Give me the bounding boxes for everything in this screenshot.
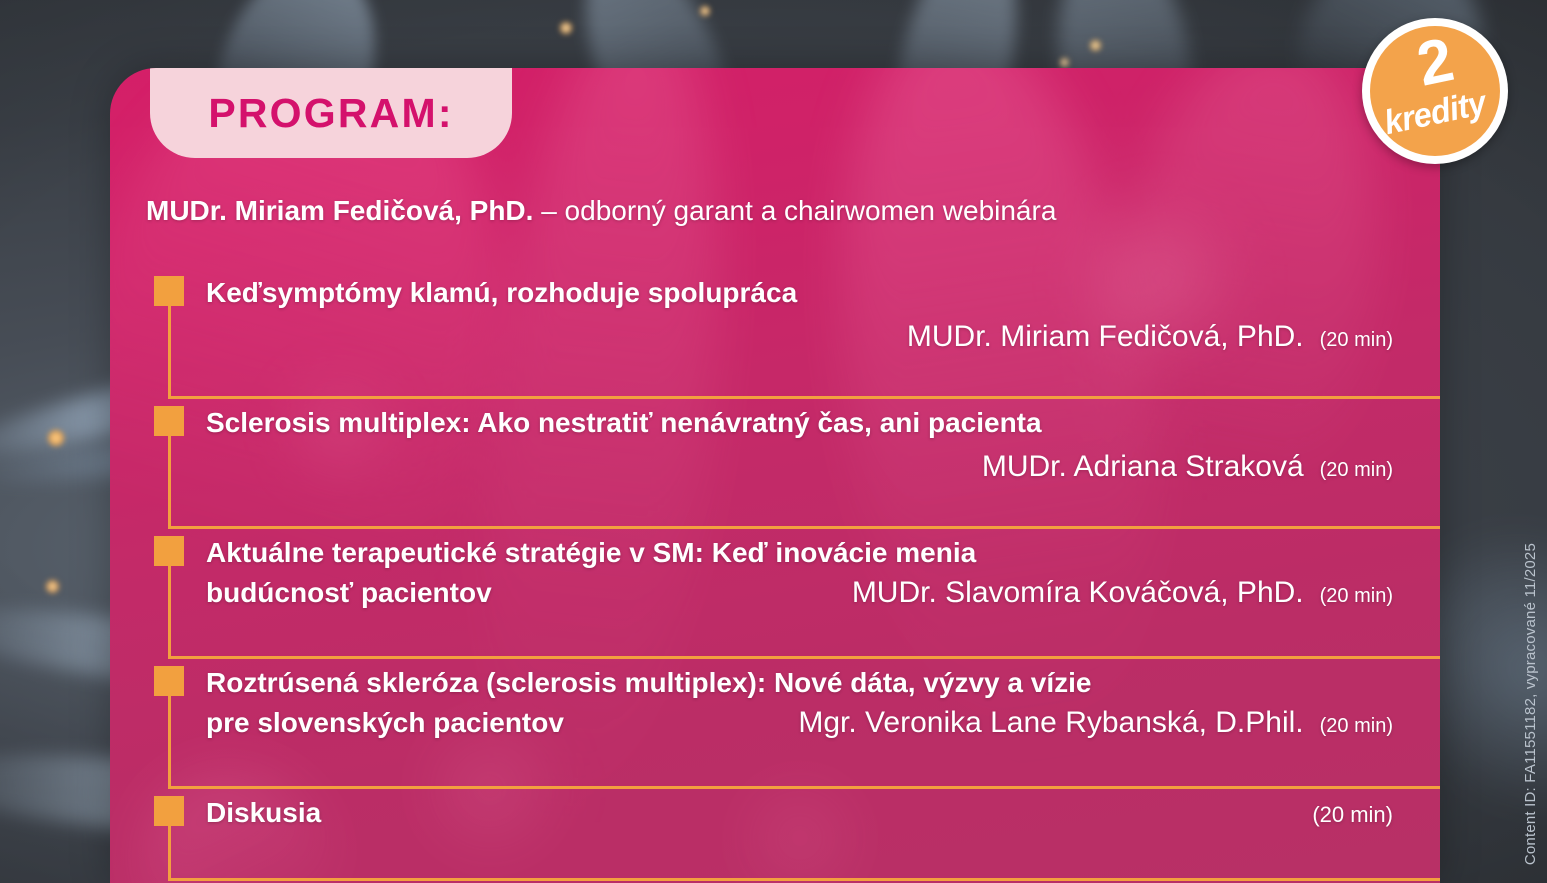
program-item[interactable]: Aktuálne terapeutické stratégie v SM: Ke… (146, 536, 1440, 663)
item-body: Diskusia (20 min) (146, 796, 1440, 829)
program-panel: PROGRAM: MUDr. Miriam Fedičová, PhD. – o… (110, 68, 1440, 883)
program-content: MUDr. Miriam Fedičová, PhD. – odborný ga… (110, 68, 1440, 883)
program-title-chip: PROGRAM: (150, 68, 512, 158)
bullet-square-icon (154, 666, 184, 696)
program-item[interactable]: Sclerosis multiplex: Ako nestratiť nenáv… (146, 406, 1440, 533)
program-item[interactable]: Roztrúsená skleróza (sclerosis multiplex… (146, 666, 1440, 793)
item-title: Aktuálne terapeutické stratégie v SM: Ke… (206, 536, 1440, 569)
program-item[interactable]: Diskusia (20 min) (146, 796, 1440, 883)
item-title: Keďsymptómy klamú, rozhoduje spolupráca (206, 276, 1440, 309)
program-list: Keďsymptómy klamú, rozhoduje spolupráca … (146, 276, 1440, 883)
bullet-square-icon (154, 276, 184, 306)
item-duration: (20 min) (1312, 802, 1393, 828)
credits-badge: 2 kredity (1362, 18, 1508, 164)
program-item[interactable]: Keďsymptómy klamú, rozhoduje spolupráca … (146, 276, 1440, 403)
item-title: Diskusia (206, 796, 321, 829)
credits-badge-disc: 2 kredity (1370, 26, 1500, 156)
poster-canvas: PROGRAM: MUDr. Miriam Fedičová, PhD. – o… (0, 0, 1547, 883)
bullet-square-icon (154, 406, 184, 436)
item-rule (168, 566, 1440, 659)
item-rule (168, 306, 1440, 399)
item-rule (168, 436, 1440, 529)
item-rule (168, 826, 1440, 881)
garant-name: MUDr. Miriam Fedičová, PhD. (146, 195, 533, 226)
content-id-text: Content ID: FA11551182, vypracované 11/2… (1522, 543, 1539, 865)
item-title: Sclerosis multiplex: Ako nestratiť nenáv… (206, 406, 1440, 439)
bullet-square-icon (154, 796, 184, 826)
bullet-square-icon (154, 536, 184, 566)
item-speaker-row: Diskusia (20 min) (206, 796, 1440, 829)
program-title-text: PROGRAM: (208, 90, 453, 137)
garant-line: MUDr. Miriam Fedičová, PhD. – odborný ga… (146, 195, 1056, 227)
item-rule (168, 696, 1440, 789)
item-title: Roztrúsená skleróza (sclerosis multiplex… (206, 666, 1440, 699)
garant-role: – odborný garant a chairwomen webinára (533, 195, 1056, 226)
